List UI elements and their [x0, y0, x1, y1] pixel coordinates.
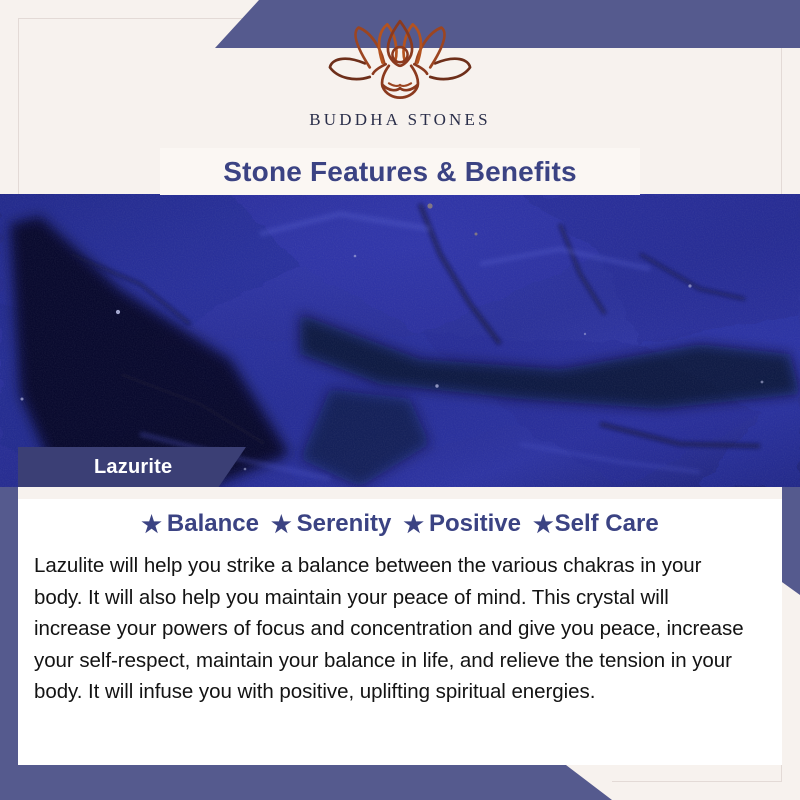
title-banner: Stone Features & Benefits	[160, 148, 640, 195]
brand-header: BUDDHA STONES	[0, 0, 800, 148]
content-card: ★ Balance ★ Serenity ★ Positive ★ Self C…	[18, 487, 782, 765]
stone-description: Lazulite will help you strike a balance …	[34, 550, 748, 708]
star-icon: ★	[271, 513, 292, 536]
decorative-band-left	[0, 487, 18, 765]
stone-name-label: Lazurite	[94, 456, 172, 479]
benefit-item-balance: ★ Balance	[141, 510, 271, 538]
decorative-band-bottom	[0, 765, 612, 800]
benefits-row: ★ Balance ★ Serenity ★ Positive ★ Self C…	[18, 510, 782, 538]
page-title: Stone Features & Benefits	[223, 156, 577, 188]
star-icon: ★	[533, 513, 554, 536]
card-top-strip	[18, 487, 782, 499]
star-icon: ★	[141, 513, 162, 536]
lotus-meditation-icon	[320, 18, 480, 104]
benefit-item-serenity: ★ Serenity	[271, 510, 403, 538]
benefit-label: Self Care	[555, 510, 659, 538]
benefit-item-positive: ★ Positive	[403, 510, 533, 538]
benefit-item-self-care: ★ Self Care	[533, 510, 659, 538]
lazurite-rough-stone-photo	[0, 194, 800, 487]
poster-canvas: BUDDHA STONES Stone Features & Benefits	[0, 0, 800, 800]
benefit-label: Serenity	[297, 510, 392, 538]
brand-name: BUDDHA STONES	[309, 110, 491, 130]
stone-name-tag: Lazurite	[18, 447, 246, 487]
benefit-label: Balance	[167, 510, 259, 538]
benefit-label: Positive	[429, 510, 521, 538]
star-icon: ★	[403, 513, 424, 536]
